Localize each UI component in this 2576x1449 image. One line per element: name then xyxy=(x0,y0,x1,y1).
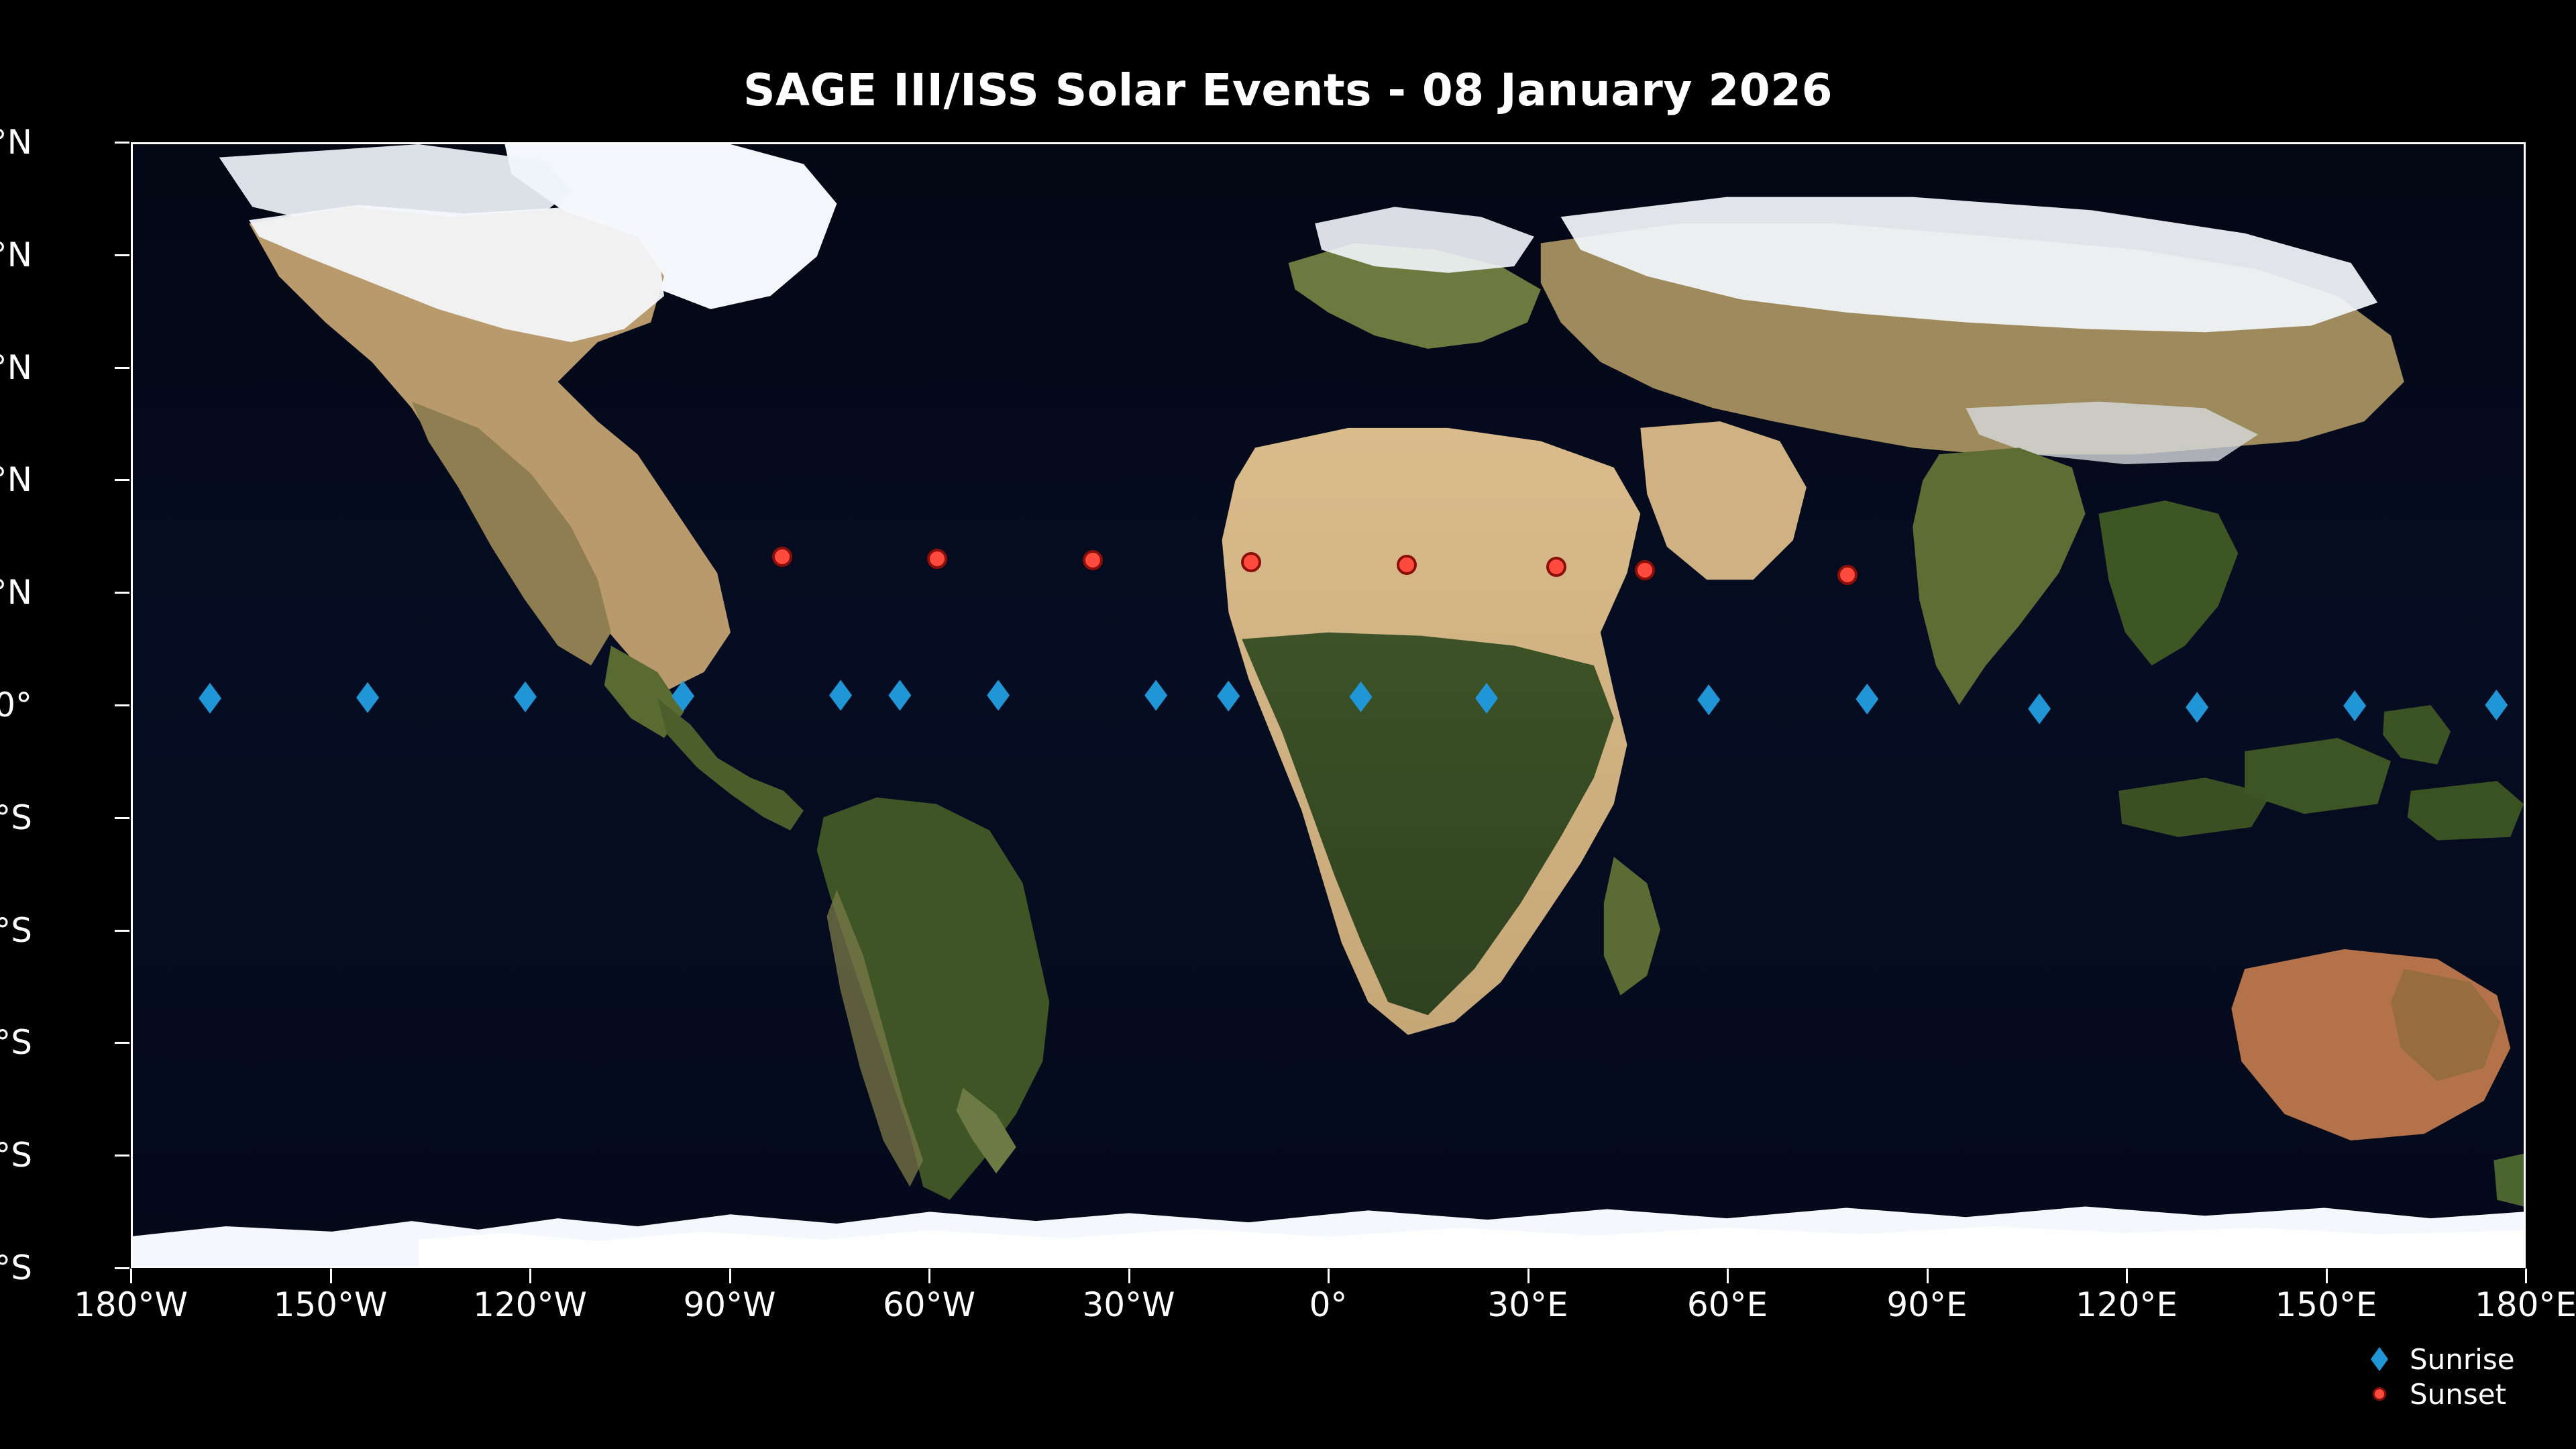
sunset-marker[interactable] xyxy=(772,547,792,567)
latitude-tick-mark xyxy=(115,1267,129,1269)
sunset-marker[interactable] xyxy=(927,549,947,569)
longitude-tick-mark xyxy=(1527,1269,1529,1283)
longitude-tick-label: 150°E xyxy=(2275,1285,2377,1324)
longitude-tick-mark xyxy=(928,1269,930,1283)
latitude-tick-mark xyxy=(115,817,129,819)
new-zealand-landmass xyxy=(2493,1154,2524,1207)
latitude-tick-mark xyxy=(115,142,129,144)
longitude-tick-mark xyxy=(2326,1269,2328,1283)
sunset-marker[interactable] xyxy=(1083,550,1103,570)
latitude-tick-label: 15°N xyxy=(0,573,32,612)
longitude-tick-mark xyxy=(130,1269,132,1283)
sunset-circle-icon xyxy=(2361,1387,2398,1401)
longitude-tick-mark xyxy=(1727,1269,1729,1283)
latitude-tick-label: 15°S xyxy=(0,798,32,837)
solar-events-map-figure: SAGE III/ISS Solar Events - 08 January 2… xyxy=(0,0,2576,1449)
legend-label-sunset: Sunset xyxy=(2410,1378,2506,1411)
latitude-tick-label: 45°N xyxy=(0,348,32,387)
longitude-tick-label: 120°E xyxy=(2076,1285,2178,1324)
latitude-tick-mark xyxy=(115,479,129,481)
latitude-tick-label: 60°N xyxy=(0,235,32,274)
longitude-tick-label: 150°W xyxy=(274,1285,388,1324)
sunrise-diamond-icon xyxy=(2361,1347,2398,1371)
latitude-tick-mark xyxy=(115,704,129,706)
latitude-tick-label: 45°S xyxy=(0,1023,32,1062)
page-title: SAGE III/ISS Solar Events - 08 January 2… xyxy=(0,64,2576,116)
longitude-tick-label: 30°E xyxy=(1487,1285,1568,1324)
latitude-tick-mark xyxy=(115,1155,129,1157)
longitude-tick-label: 30°W xyxy=(1082,1285,1175,1324)
latitude-tick-mark xyxy=(115,592,129,594)
longitude-tick-mark xyxy=(729,1269,731,1283)
sunset-marker[interactable] xyxy=(1241,552,1261,572)
latitude-tick-mark xyxy=(115,930,129,932)
legend-label-sunrise: Sunrise xyxy=(2410,1343,2515,1376)
longitude-tick-label: 180°E xyxy=(2475,1285,2576,1324)
longitude-tick-label: 180°W xyxy=(74,1285,188,1324)
longitude-tick-mark xyxy=(1927,1269,1929,1283)
latitude-tick-mark xyxy=(115,367,129,369)
longitude-tick-label: 60°E xyxy=(1687,1285,1768,1324)
latitude-tick-label: 30°S xyxy=(0,911,32,950)
legend-item-sunrise[interactable]: Sunrise xyxy=(2361,1342,2563,1377)
latitude-tick-label: 75°N xyxy=(0,123,32,162)
longitude-tick-label: 120°W xyxy=(473,1285,587,1324)
latitude-tick-label: 60°S xyxy=(0,1136,32,1175)
legend: Sunrise Sunset xyxy=(2361,1342,2563,1411)
world-map-image xyxy=(133,144,2524,1266)
map-plot-area xyxy=(131,142,2526,1268)
longitude-tick-mark xyxy=(2525,1269,2527,1283)
latitude-tick-label: 30°N xyxy=(0,460,32,499)
latitude-tick-label: 0° xyxy=(0,686,32,724)
longitude-tick-label: 90°E xyxy=(1886,1285,1967,1324)
sunset-marker[interactable] xyxy=(1546,557,1566,577)
longitude-tick-mark xyxy=(1128,1269,1130,1283)
longitude-tick-mark xyxy=(2126,1269,2128,1283)
latitude-tick-mark xyxy=(115,254,129,256)
latitude-tick-label: 75°S xyxy=(0,1248,32,1287)
longitude-tick-mark xyxy=(529,1269,531,1283)
longitude-tick-label: 90°W xyxy=(683,1285,775,1324)
longitude-tick-label: 60°W xyxy=(883,1285,975,1324)
sunset-marker[interactable] xyxy=(1397,555,1417,575)
sunset-marker[interactable] xyxy=(1837,565,1858,585)
legend-item-sunset[interactable]: Sunset xyxy=(2361,1377,2563,1411)
longitude-tick-mark xyxy=(1328,1269,1330,1283)
latitude-tick-mark xyxy=(115,1042,129,1044)
longitude-tick-label: 0° xyxy=(1309,1285,1348,1324)
sunset-marker[interactable] xyxy=(1635,560,1655,580)
longitude-tick-mark xyxy=(330,1269,332,1283)
